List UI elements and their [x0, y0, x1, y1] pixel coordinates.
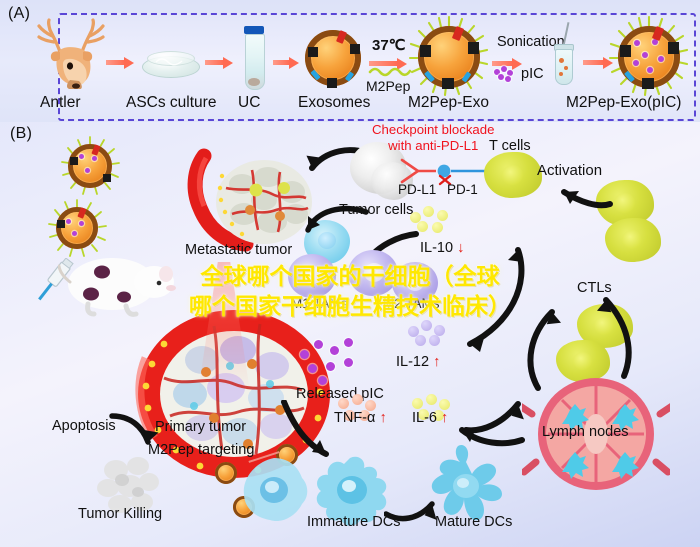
- targeted-macrophage-icon: [236, 454, 314, 526]
- step-label-antler: Antler: [40, 94, 81, 112]
- checkpoint-line-2: with anti-PD-L1: [372, 138, 494, 154]
- label-lymph-nodes: Lymph nodes: [542, 424, 629, 440]
- t-cell-3: [605, 218, 661, 262]
- pic-particles-icon: [494, 66, 516, 82]
- label-m2-tams: M2 TAMs: [383, 296, 440, 311]
- exosome-peptide-icon: [418, 26, 480, 88]
- label-primary-tumor: Primary tumor: [155, 419, 246, 435]
- label-metastatic-tumor: Metastatic tumor: [185, 242, 292, 258]
- step-label-m2pep-exo-pic: M2Pep-Exo(pIC): [566, 94, 681, 112]
- il-12-text: IL-12: [396, 354, 429, 370]
- step-label-uc: UC: [238, 94, 260, 112]
- petri-dish-icon: [140, 48, 200, 78]
- targeting-exosome-2: [215, 462, 237, 484]
- step-label-exosomes: Exosomes: [298, 94, 370, 112]
- step-label-ascs-culture: ASCs culture: [126, 94, 216, 112]
- arrow-immature-to-mature: [384, 490, 440, 524]
- arrow-il12-to-ctls: [452, 244, 528, 356]
- process-arrow-1: [106, 57, 134, 67]
- arrow-apoptosis: [108, 410, 162, 452]
- label-il-6: IL-6 ↑: [412, 410, 448, 426]
- exosome-particle-1: [68, 144, 112, 188]
- label-activation: Activation: [537, 162, 602, 179]
- label-il-12: IL-12 ↑: [396, 354, 440, 370]
- centrifuge-tube-icon: [243, 26, 267, 92]
- label-pd-1: PD-1: [447, 182, 478, 197]
- il-10-text: IL-10: [420, 240, 453, 256]
- il-6-trend: ↑: [441, 410, 448, 426]
- figure-canvas: (A) Antler: [0, 0, 700, 547]
- panel-a: (A) Antler: [0, 0, 700, 122]
- panel-b: Metastatic tumor Tumor cells Checkpoint …: [0, 122, 700, 547]
- exosome-icon: [305, 30, 361, 86]
- il-12-trend: ↑: [433, 354, 440, 370]
- tnf-alpha-trend: ↑: [379, 410, 386, 426]
- label-apoptosis: Apoptosis: [52, 418, 116, 434]
- process-arrow-3: [273, 57, 299, 67]
- deer-icon: [30, 18, 116, 90]
- step-label-m2pep-exo: M2Pep-Exo: [408, 94, 489, 112]
- released-pic-cluster: [300, 338, 362, 384]
- annotation-temperature: 37℃: [372, 36, 406, 54]
- annotation-pic: pIC: [521, 66, 544, 82]
- annotation-m2pep: M2Pep: [366, 78, 410, 94]
- process-arrow-2: [205, 57, 233, 67]
- label-mature-dcs: Mature DCs: [435, 514, 512, 530]
- m2-tam-cell-1: [348, 250, 398, 296]
- il-12-cytokine-dots: [408, 320, 450, 346]
- panel-a-tag: (A): [8, 5, 30, 23]
- il-6-text: IL-6: [412, 410, 437, 426]
- sonication-tube-icon: [551, 22, 577, 88]
- t-cell-1: [484, 152, 542, 198]
- label-pd-l1: PD-L1: [398, 182, 436, 197]
- m2pep-squiggle-icon: [368, 64, 412, 78]
- exosome-pic-icon: [618, 26, 680, 88]
- label-tumor-killing: Tumor Killing: [78, 506, 162, 522]
- arrow-activation: [546, 180, 616, 212]
- m1-tam-cell-2: [288, 254, 336, 298]
- exosome-particle-2: [56, 207, 98, 249]
- checkpoint-line-1: Checkpoint blockade: [372, 122, 494, 138]
- arrow-repolarization: [300, 200, 374, 234]
- checkpoint-blockade-note: Checkpoint blockade with anti-PD-L1: [372, 122, 494, 153]
- arrow-lymph-to-ctls-right: [590, 292, 640, 380]
